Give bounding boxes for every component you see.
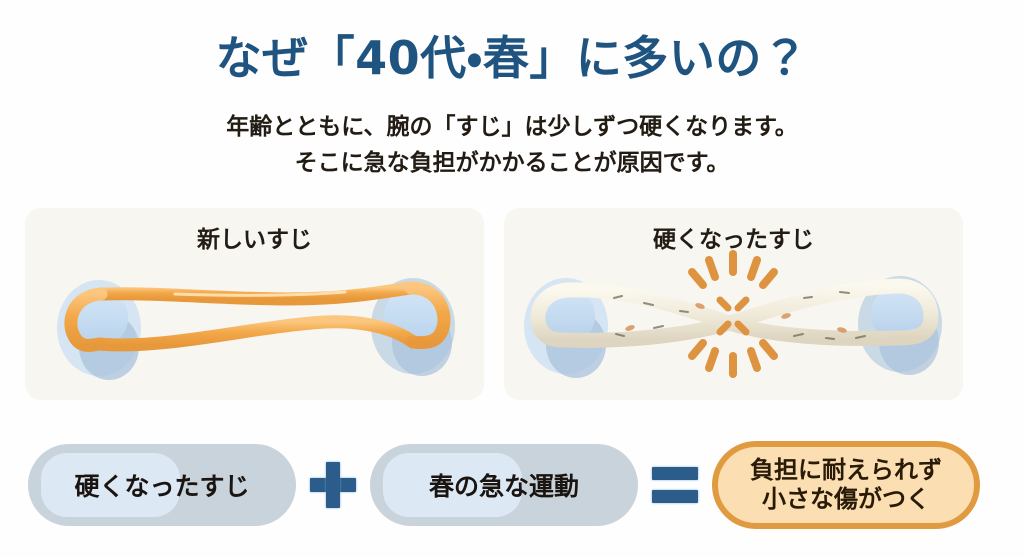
cause-equation: 硬くなったすじ 春の急な運動 負担に耐えられず 小さな傷がつく [28, 437, 968, 533]
comparison-panels: 新しいすじ [25, 208, 963, 400]
panel-stiff-label: 硬くなったすじ [504, 220, 963, 254]
equals-icon [652, 467, 698, 503]
equals-operator [638, 444, 712, 526]
plus-operator [296, 444, 370, 526]
equation-term-stiff-tendon: 硬くなったすじ [28, 444, 296, 526]
page-subtitle: 年齢とともに、腕の「すじ」は少しずつ硬くなります。 そこに急な負担がかかることが… [0, 110, 1024, 181]
result-line-1: 負担に耐えられず [750, 456, 942, 485]
plus-icon [310, 462, 356, 508]
equation-term1-label: 硬くなったすじ [48, 467, 275, 503]
subtitle-line-2: そこに急な負担がかかることが原因です。 [0, 146, 1024, 182]
equation-term-spring-exercise: 春の急な運動 [370, 444, 638, 526]
page-title: なぜ「40代・春」に多いの？ [0, 32, 1024, 85]
panel-stiff-tendon: 硬くなったすじ [504, 208, 963, 400]
subtitle-line-1: 年齢とともに、腕の「すじ」は少しずつ硬くなります。 [0, 110, 1024, 146]
infographic-root: なぜ「40代・春」に多いの？ 年齢とともに、腕の「すじ」は少しずつ硬くなります。… [0, 0, 1024, 557]
equation-result: 負担に耐えられず 小さな傷がつく [712, 441, 980, 529]
result-line-2: 小さな傷がつく [762, 485, 930, 514]
panel-healthy-tendon: 新しいすじ [25, 208, 484, 400]
equation-term2-label: 春の急な運動 [403, 467, 605, 503]
panel-healthy-label: 新しいすじ [25, 220, 484, 254]
